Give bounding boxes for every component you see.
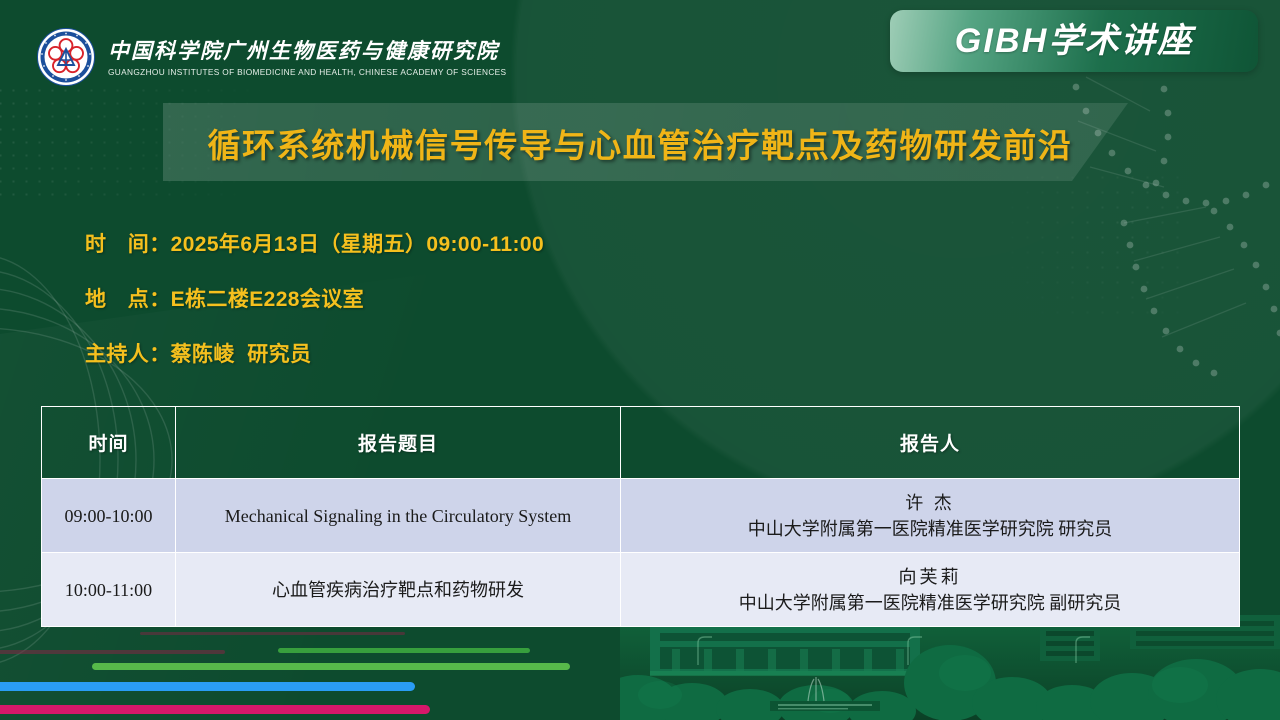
cell-time: 10:00-11:00 [42, 553, 176, 627]
info-value-host: 蔡陈崚 研究员 [171, 338, 312, 368]
info-value-location: E栋二楼E228会议室 [171, 283, 364, 313]
info-row-host: 主持人： 蔡陈崚 研究员 [85, 338, 544, 368]
schedule-header-row: 时间 报告题目 报告人 [42, 407, 1240, 479]
institute-name-cn: 中国科学院广州生物医药与健康研究院 [108, 39, 506, 64]
speaker-name: 向芙莉 [627, 564, 1233, 590]
gibh-lecture-badge: GIBH学术讲座 [890, 10, 1258, 72]
schedule-table: 时间 报告题目 报告人 09:00-10:00 Mechanical Signa… [41, 406, 1240, 627]
table-row: 10:00-11:00 心血管疾病治疗靶点和药物研发 向芙莉 中山大学附属第一医… [42, 553, 1240, 627]
speaker-affiliation: 中山大学附属第一医院精准医学研究院 研究员 [627, 516, 1233, 542]
cell-speaker: 向芙莉 中山大学附属第一医院精准医学研究院 副研究员 [621, 553, 1240, 627]
gibh-lecture-badge-label: GIBH学术讲座 [955, 24, 1194, 58]
institute-name-en: GUANGZHOU INSTITUTES OF BIOMEDICINE AND … [108, 67, 506, 78]
table-row: 09:00-10:00 Mechanical Signaling in the … [42, 479, 1240, 553]
column-header-time: 时间 [42, 407, 176, 479]
institute-name-block: 中国科学院广州生物医药与健康研究院 GUANGZHOU INSTITUTES O… [108, 37, 506, 78]
poster-header: 中国科学院广州生物医药与健康研究院 GUANGZHOU INSTITUTES O… [0, 0, 1280, 100]
cell-topic: 心血管疾病治疗靶点和药物研发 [176, 553, 621, 627]
info-value-time: 2025年6月13日（星期五）09:00-11:00 [171, 228, 544, 258]
speaker-affiliation: 中山大学附属第一医院精准医学研究院 副研究员 [627, 590, 1233, 616]
info-row-location: 地 点： E栋二楼E228会议室 [85, 283, 544, 313]
cell-topic: Mechanical Signaling in the Circulatory … [176, 479, 621, 553]
info-label-host: 主持人： [85, 338, 171, 368]
page-title: 循环系统机械信号传导与心血管治疗靶点及药物研发前沿 [0, 125, 1280, 167]
info-row-time: 时 间： 2025年6月13日（星期五）09:00-11:00 [85, 228, 544, 258]
info-label-location: 地 点： [85, 283, 171, 313]
accent-speed-lines [0, 615, 620, 720]
institute-logo: 中国科学院广州生物医药与健康研究院 GUANGZHOU INSTITUTES O… [35, 26, 506, 88]
column-header-speaker: 报告人 [621, 407, 1240, 479]
campus-building-photo [620, 615, 1280, 720]
cell-time: 09:00-10:00 [42, 479, 176, 553]
speaker-name: 许 杰 [627, 490, 1233, 516]
seminar-poster: 中国科学院广州生物医药与健康研究院 GUANGZHOU INSTITUTES O… [0, 0, 1280, 720]
info-label-time: 时 间： [85, 228, 171, 258]
column-header-topic: 报告题目 [176, 407, 621, 479]
background-dot-grid-right [960, 170, 1190, 320]
event-info: 时 间： 2025年6月13日（星期五）09:00-11:00 地 点： E栋二… [85, 228, 544, 393]
cell-speaker: 许 杰 中山大学附属第一医院精准医学研究院 研究员 [621, 479, 1240, 553]
cas-gibh-emblem-icon [35, 26, 97, 88]
